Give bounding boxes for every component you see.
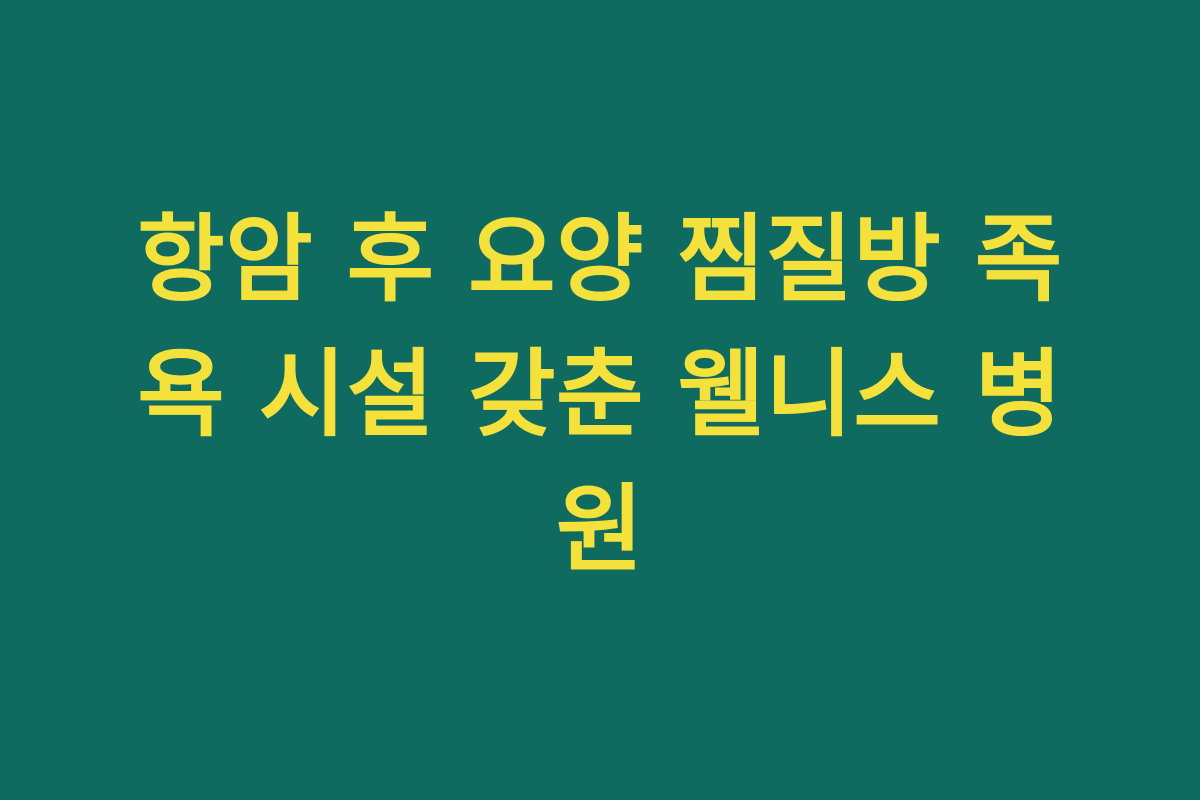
headline-line-3: 원	[95, 463, 1105, 598]
banner-canvas: 항암 후 요양 찜질방 족 욕 시설 갖춘 웰니스 병 원	[0, 0, 1200, 800]
headline-line-1: 항암 후 요양 찜질방 족	[95, 193, 1105, 328]
page-title: 항암 후 요양 찜질방 족 욕 시설 갖춘 웰니스 병 원	[95, 193, 1105, 598]
headline-line-2: 욕 시설 갖춘 웰니스 병	[95, 328, 1105, 463]
headline-block: 항암 후 요양 찜질방 족 욕 시설 갖춘 웰니스 병 원	[95, 193, 1105, 598]
